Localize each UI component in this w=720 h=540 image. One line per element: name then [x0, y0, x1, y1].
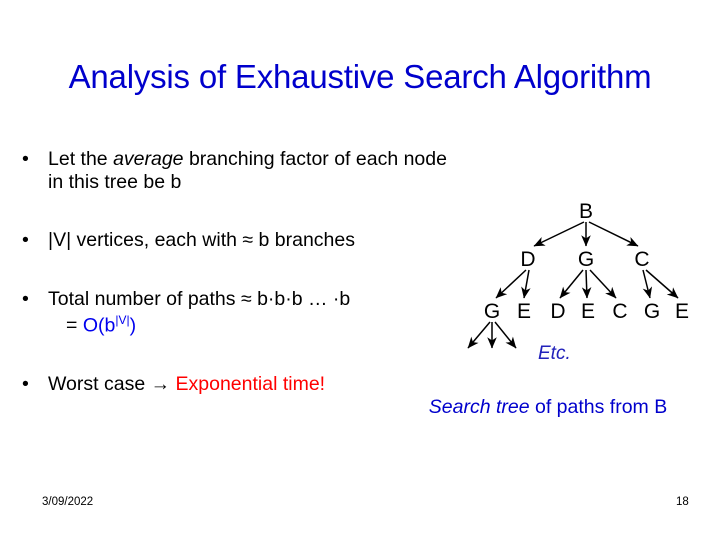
tree-node-l2-d1: D: [550, 300, 565, 324]
bullet-1-lead: Let the: [48, 148, 113, 170]
edge-g-c: [590, 270, 616, 298]
bullet-item-3: • Total number of paths ≈ b·b·b … ·b = O…: [20, 288, 450, 338]
bullet-3-formula: = O(b|V|): [66, 313, 450, 338]
tree-node-l2-c1: C: [612, 300, 627, 324]
edge-g-e: [586, 270, 587, 298]
formula-equals: =: [66, 315, 83, 337]
bullet-text-1: Let the average branching factor of each…: [48, 148, 450, 194]
bullet-item-4: • Worst case → Exponential time!: [20, 373, 450, 396]
search-tree-diagram: B D G C G E D E C G E: [440, 190, 720, 370]
page-title: Analysis of Exhaustive Search Algorithm: [0, 58, 720, 96]
edge-b-c: [589, 222, 638, 246]
slide-canvas: Analysis of Exhaustive Search Algorithm …: [0, 0, 720, 540]
formula-exponent: |V|: [115, 313, 129, 327]
bullet-1-emphasis: average: [113, 148, 183, 170]
edge-gleaf-etc-1: [468, 322, 490, 348]
tree-node-l2-g1: G: [484, 300, 500, 324]
bullet-4-lead: Worst case: [48, 373, 151, 395]
bullet-marker: •: [22, 148, 29, 171]
footer-date: 3/09/2022: [42, 496, 93, 508]
tree-node-l2-g2: G: [644, 300, 660, 324]
bullet-marker: •: [22, 229, 29, 252]
bullet-marker: •: [22, 373, 29, 396]
edge-b-d: [534, 222, 584, 246]
bullet-text-2: |V| vertices, each with ≈ b branches: [48, 229, 450, 252]
bullet-item-1: • Let the average branching factor of ea…: [20, 148, 450, 194]
formula-close-paren: ): [130, 315, 137, 337]
tree-node-l1-d: D: [520, 248, 535, 272]
edge-gleaf-etc-3: [495, 322, 516, 348]
right-arrow-icon: →: [151, 373, 171, 395]
bullet-item-2: • |V| vertices, each with ≈ b branches: [20, 229, 450, 252]
caption-italic-part: Search tree: [429, 396, 530, 418]
tree-caption: Search tree of paths from B: [388, 396, 708, 419]
tree-node-l2-e2: E: [581, 300, 595, 324]
etc-label: Etc.: [538, 343, 571, 365]
bullet-marker: •: [22, 288, 29, 311]
bullet-4-highlight: Exponential time!: [170, 373, 325, 395]
edge-g-d: [560, 270, 583, 298]
bullet-text-4: Worst case → Exponential time!: [48, 373, 450, 396]
tree-node-root-b: B: [579, 200, 593, 224]
footer-page-number: 18: [676, 496, 689, 508]
bullet-text-3: Total number of paths ≈ b·b·b … ·b: [48, 288, 450, 311]
tree-node-l2-e3: E: [675, 300, 689, 324]
edge-d-g: [496, 270, 526, 298]
tree-node-l2-e1: E: [517, 300, 531, 324]
edge-c-e: [646, 270, 678, 298]
edge-d-e: [524, 270, 529, 298]
edge-c-g: [643, 270, 650, 298]
tree-node-l1-g: G: [578, 248, 594, 272]
caption-rest-part: of paths from B: [530, 396, 668, 418]
formula-big-o: O(b: [83, 315, 116, 337]
tree-node-l1-c: C: [634, 248, 649, 272]
